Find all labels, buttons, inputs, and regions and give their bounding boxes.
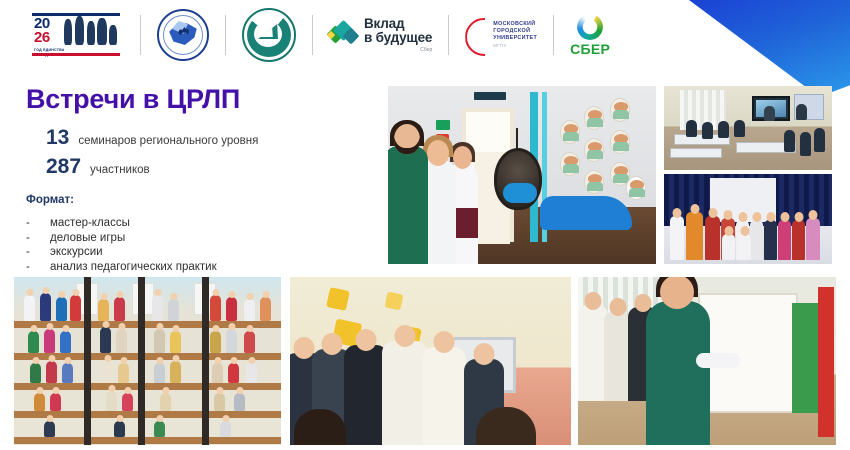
format-item-label: деловые игры [50, 231, 125, 246]
list-item: - экскурсии [26, 245, 217, 260]
format-list: - мастер-классы - деловые игры - экскурс… [26, 216, 217, 275]
presentation-slide: 20 26 ГОД ЕДИНСТВА НАРОДОВ РОССИИ [0, 0, 850, 450]
wall-plates-decor [558, 96, 646, 204]
vklad-line1: Вклад [364, 17, 432, 31]
logo-mgpu: МОСКОВСКИЙ ГОРОДСКОЙ УНИВЕРСИТЕТ МГПУ [465, 7, 537, 63]
photo-classroom-lesson [664, 86, 832, 170]
logo-year-2026-unity: 20 26 ГОД ЕДИНСТВА НАРОДОВ РОССИИ [28, 7, 124, 63]
format-item-label: экскурсии [50, 245, 103, 260]
bullet-dash: - [26, 260, 50, 275]
mgpu-sub: МГПУ [493, 43, 537, 49]
mgpu-arc-icon [465, 16, 489, 54]
stat-participants: 287 участников [46, 155, 150, 179]
list-item: - мастер-классы [26, 216, 217, 231]
photo-business-game [290, 277, 571, 445]
year-2026-unity-icon: 20 26 ГОД ЕДИНСТВА НАРОДОВ РОССИИ [28, 7, 124, 63]
logo-teal-institute [242, 7, 296, 63]
sber-checkmark-icon [577, 14, 603, 40]
photo-sensory-room [388, 86, 656, 264]
photo-folk-costumes [664, 174, 832, 264]
mgpu-line3: УНИВЕРСИТЕТ [493, 35, 537, 42]
sber-wordmark: СБЕР [570, 41, 610, 57]
vklad-line2: в будущее [364, 31, 432, 45]
stat-seminars-number: 13 [46, 126, 69, 150]
list-item: - анализ педагогических практик [26, 260, 217, 275]
bullet-dash: - [26, 231, 50, 246]
stat-seminars-label: семинаров регионального уровня [78, 135, 258, 147]
mgpu-line2: ГОРОДСКОЙ [493, 28, 537, 35]
bullet-dash: - [26, 245, 50, 260]
region-emblem-icon [157, 9, 209, 61]
stat-participants-label: участников [90, 164, 150, 176]
vklad-diamond-icon [329, 21, 357, 49]
logo-2026-caption-1: ГОД ЕДИНСТВА [34, 48, 65, 52]
logo-separator [553, 15, 554, 55]
format-heading: Формат: [26, 194, 74, 206]
logo-2026-line2: 26 [34, 30, 50, 45]
logo-separator [448, 15, 449, 55]
logo-region-emblem [157, 7, 209, 63]
unity-figures-icon [62, 15, 118, 45]
teacher-figure [646, 301, 710, 445]
format-item-label: анализ педагогических практик [50, 260, 217, 275]
logo-separator [140, 15, 141, 55]
teal-institute-icon [242, 8, 296, 62]
logo-separator [312, 15, 313, 55]
format-item-label: мастер-классы [50, 216, 130, 231]
logo-sber: СБЕР [570, 7, 610, 63]
photo-doll-collection [14, 277, 281, 445]
stat-participants-number: 287 [46, 155, 81, 179]
logo-vklad-v-budushchee: Вклад в будущее Сбер [329, 7, 432, 63]
vklad-sub: Сбер [364, 48, 432, 53]
list-item: - деловые игры [26, 231, 217, 246]
logo-separator [225, 15, 226, 55]
content-text-column: Встречи в ЦРЛП 13 семинаров региональног… [0, 70, 380, 270]
stat-seminars: 13 семинаров регионального уровня [46, 126, 258, 150]
photo-teacher-stand [578, 277, 836, 445]
page-title: Встречи в ЦРЛП [26, 84, 240, 115]
bullet-dash: - [26, 216, 50, 231]
partner-logo-bar: 20 26 ГОД ЕДИНСТВА НАРОДОВ РОССИИ [0, 0, 850, 70]
